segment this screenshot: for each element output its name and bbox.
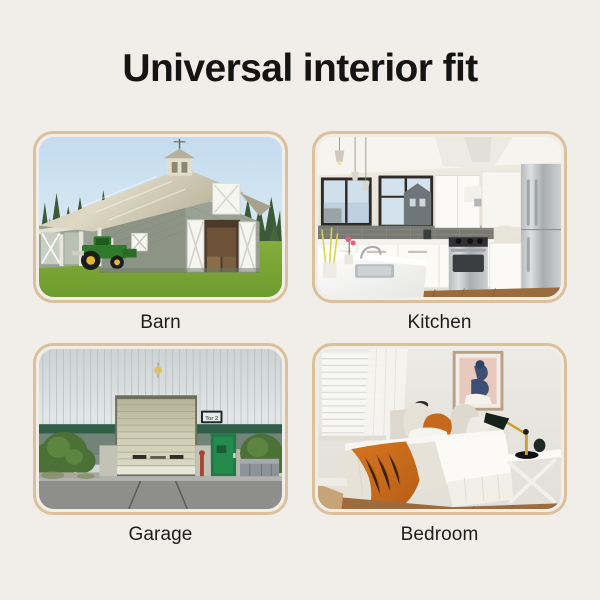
- gallery-cell-bedroom[interactable]: Bedroom: [312, 343, 567, 547]
- kitchen-photo: [318, 137, 561, 297]
- image-card-bedroom[interactable]: [312, 343, 567, 515]
- barn-illustration: [39, 137, 282, 297]
- page-title: Universal interior fit: [0, 48, 600, 90]
- garage-door-sign: Tor 2: [201, 410, 222, 423]
- image-card-barn[interactable]: [33, 131, 288, 303]
- gallery-cell-kitchen[interactable]: Kitchen: [312, 131, 567, 335]
- gallery-label-garage: Garage: [129, 524, 193, 547]
- gallery-cell-barn[interactable]: Barn: [33, 131, 288, 335]
- svg-text:Tor 2: Tor 2: [205, 416, 218, 422]
- promo-page: Universal interior fit: [0, 0, 600, 600]
- bedroom-photo: [318, 349, 561, 509]
- garage-illustration: Tor 2: [39, 349, 282, 509]
- image-card-garage[interactable]: Tor 2: [33, 343, 288, 515]
- bedroom-illustration: [318, 349, 561, 509]
- gallery-label-kitchen: Kitchen: [407, 312, 471, 335]
- gallery-cell-garage[interactable]: Tor 2: [33, 343, 288, 547]
- kitchen-illustration: [318, 137, 561, 297]
- barn-photo: [39, 137, 282, 297]
- gallery-label-bedroom: Bedroom: [401, 524, 479, 547]
- gallery-label-barn: Barn: [140, 312, 181, 335]
- feature-gallery-grid: Barn: [33, 131, 567, 547]
- image-card-kitchen[interactable]: [312, 131, 567, 303]
- garage-photo: Tor 2: [39, 349, 282, 509]
